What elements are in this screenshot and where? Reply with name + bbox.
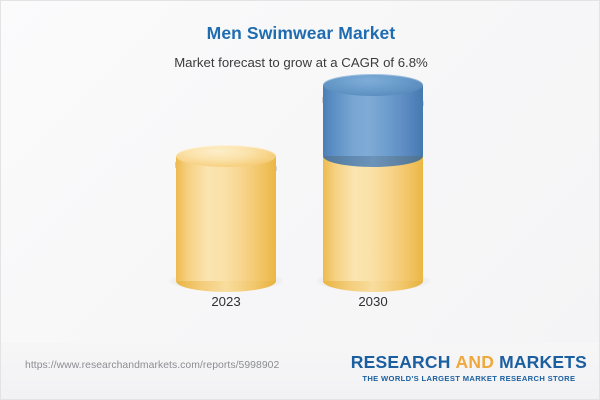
cylinder-body-2023: [176, 156, 276, 281]
cylinder-bar-2030: [323, 156, 423, 281]
category-label-2030: 2030: [298, 294, 448, 309]
logo-word-markets: MARKETS: [499, 352, 587, 372]
cylinder-top-cap-2030: [323, 74, 423, 96]
cylinder-body-base-2030: [323, 156, 423, 281]
brand-logo[interactable]: RESEARCHANDMARKETS THE WORLD'S LARGEST M…: [351, 353, 587, 383]
bar-segment-base-2030: [323, 156, 423, 281]
chart-plot-area: USD 4.97 Billion 2023 USD 7.78 Billion: [1, 1, 600, 341]
footer-bar: https://www.researchandmarkets.com/repor…: [1, 343, 600, 399]
bar-segment-base-2023: [176, 156, 276, 281]
report-url[interactable]: https://www.researchandmarkets.com/repor…: [25, 360, 279, 371]
category-label-2023: 2023: [151, 294, 301, 309]
bar-segment-growth-2030: [323, 85, 423, 156]
logo-word-research: RESEARCH: [351, 352, 451, 372]
cylinder-top-cap-2023: [176, 145, 276, 167]
logo-word-and: AND: [456, 352, 495, 372]
cylinder-bar-2023: [176, 156, 276, 281]
logo-wordmark: RESEARCHANDMARKETS: [351, 353, 587, 371]
market-infographic: Men Swimwear Market Market forecast to g…: [0, 0, 600, 400]
logo-tagline: THE WORLD'S LARGEST MARKET RESEARCH STOR…: [351, 374, 587, 383]
